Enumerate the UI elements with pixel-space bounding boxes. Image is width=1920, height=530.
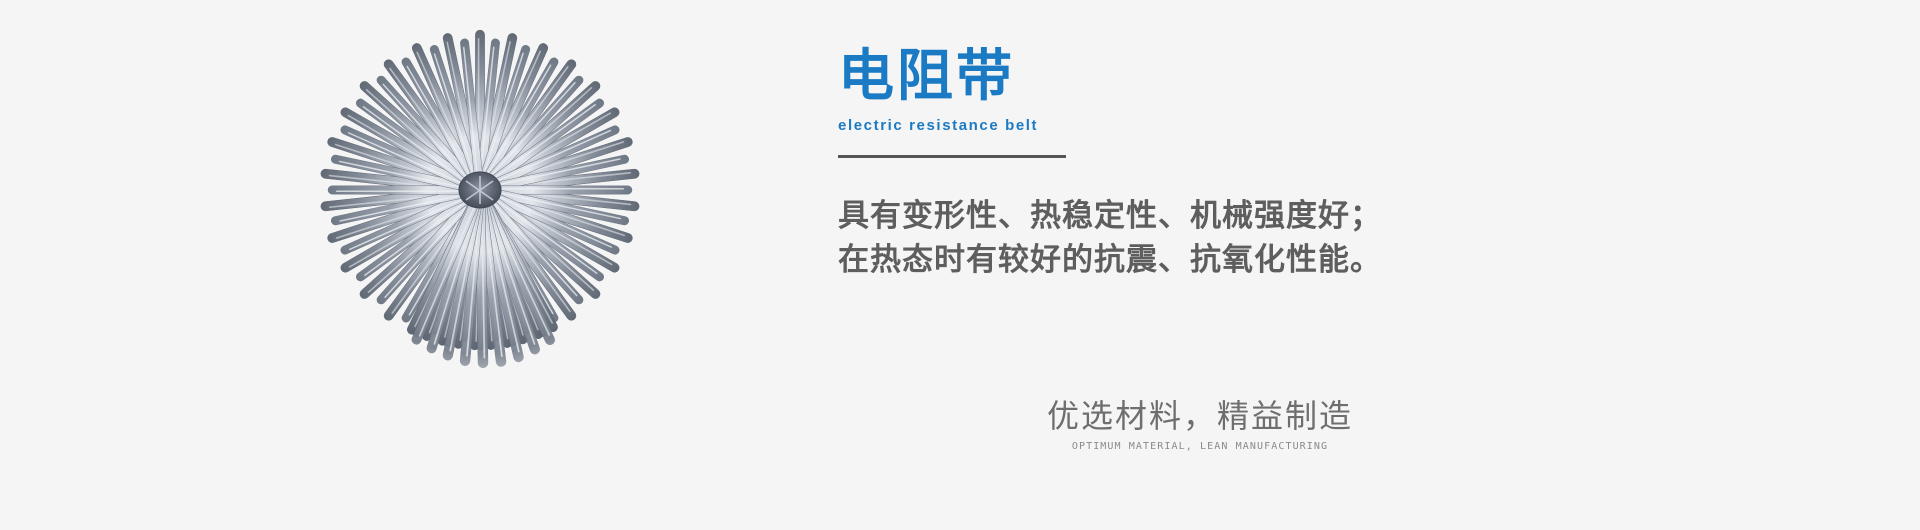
page-title: 电阻带: [838, 46, 1538, 108]
image-vignette: [280, 30, 680, 390]
tagline-english: OPTIMUM MATERIAL, LEAN MANUFACTURING: [940, 440, 1460, 454]
product-image: [280, 30, 680, 450]
tagline-chinese: 优选材料，精益制造: [1047, 396, 1353, 436]
copy-block: 电阻带 electric resistance belt 具有变形性、热稳定性、…: [838, 46, 1538, 282]
description-line-1: 具有变形性、热稳定性、机械强度好；: [838, 194, 1538, 238]
title-divider: [838, 155, 1066, 158]
resistance-belt-illustration: [280, 30, 680, 450]
product-description: 具有变形性、热稳定性、机械强度好； 在热态时有较好的抗震、抗氧化性能。: [838, 194, 1538, 282]
description-line-2: 在热态时有较好的抗震、抗氧化性能。: [838, 238, 1538, 282]
product-banner: 电阻带 electric resistance belt 具有变形性、热稳定性、…: [0, 0, 1920, 530]
tagline-block: 优选材料，精益制造 OPTIMUM MATERIAL, LEAN MANUFAC…: [940, 396, 1460, 454]
page-subtitle: electric resistance belt: [838, 117, 1538, 134]
